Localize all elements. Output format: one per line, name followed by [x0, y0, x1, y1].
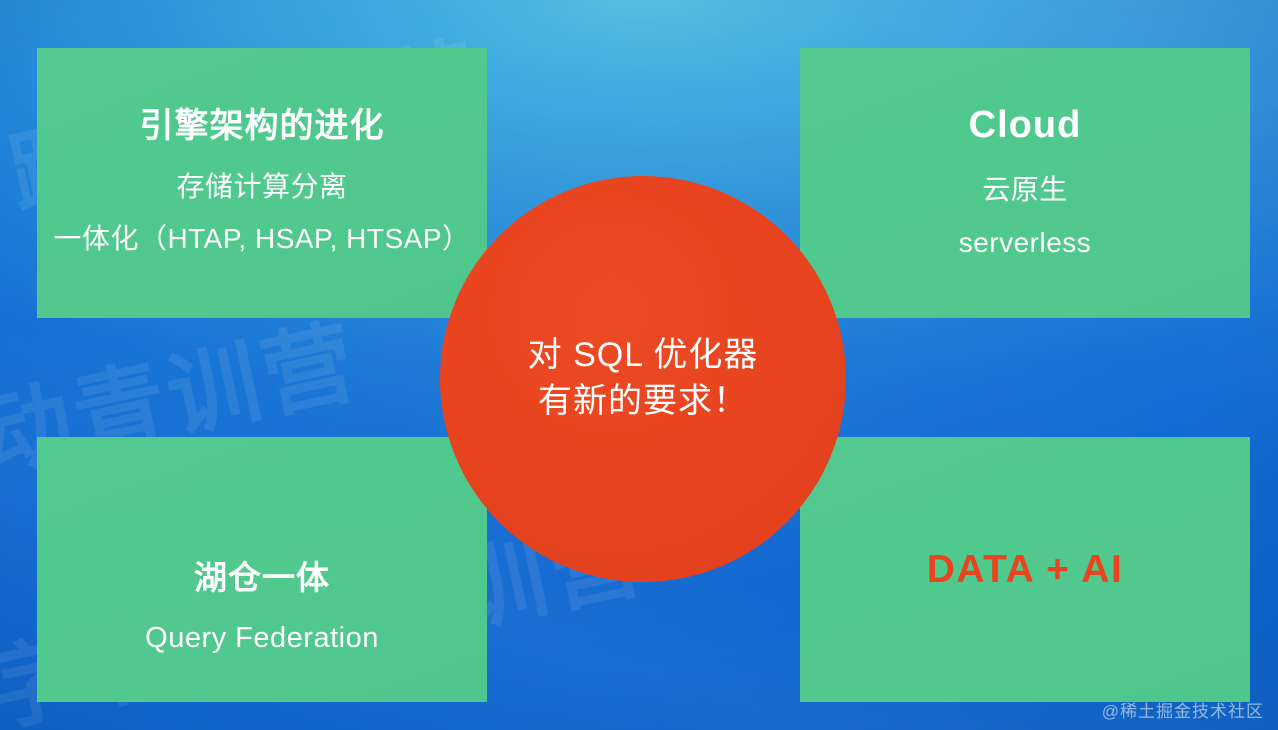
panel-accent-text: DATA + AI: [927, 548, 1124, 592]
panel-title: Cloud: [969, 103, 1082, 149]
center-circle-line: 有新的要求！: [538, 379, 748, 425]
panel-cloud: Cloud 云原生 serverless: [800, 48, 1250, 318]
panel-engine-architecture: 引擎架构的进化 存储计算分离 一体化（HTAP, HSAP, HTSAP）: [37, 48, 487, 318]
panel-line: 云原生: [982, 170, 1068, 211]
slide-canvas: 字节跳动青训营 字节跳动青训营 字节跳动青训营 引擎架构的进化 存储计算分离 一…: [0, 0, 1278, 730]
center-circle-callout: 对 SQL 优化器 有新的要求！: [440, 176, 846, 582]
panel-lakehouse: 湖仓一体 Query Federation: [37, 437, 487, 702]
panel-title: 湖仓一体: [194, 558, 330, 598]
panel-data-plus-ai: DATA + AI: [800, 437, 1250, 702]
panel-line: 一体化（HTAP, HSAP, HTSAP）: [53, 219, 470, 260]
panel-line: Query Federation: [145, 617, 379, 659]
center-circle-line: 对 SQL 优化器: [528, 333, 759, 379]
panel-line: serverless: [959, 223, 1092, 264]
panel-line: 存储计算分离: [176, 167, 347, 208]
corner-watermark: @稀土掘金技术社区: [1102, 697, 1264, 722]
panel-title: 引擎架构的进化: [140, 106, 385, 147]
